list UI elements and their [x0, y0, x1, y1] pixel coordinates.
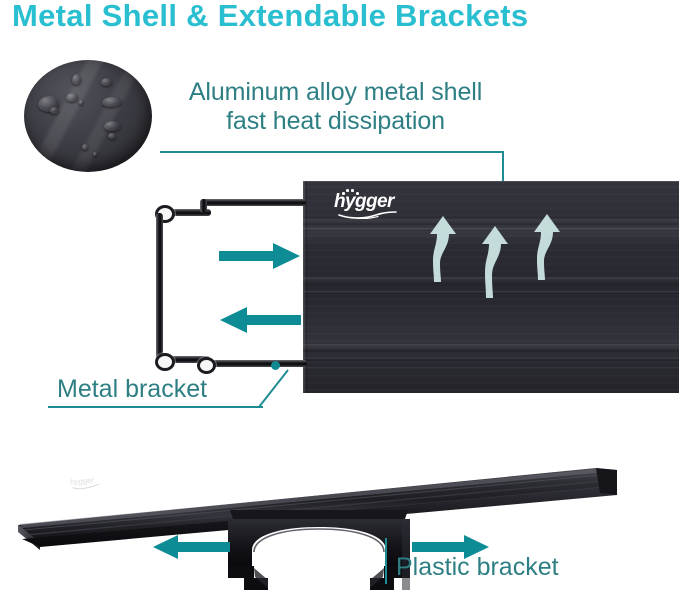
page-title: Metal Shell & Extendable Brackets: [12, 0, 652, 34]
bracket-bottom-pivot-loop: [155, 353, 175, 371]
shell-ridge-band: [303, 357, 679, 361]
heat-arrow-up-icon: [426, 213, 460, 285]
arrow-left-icon: [219, 306, 301, 334]
heat-callout-line-1: Aluminum alloy metal shell: [163, 78, 508, 107]
metal-surface-closeup-inset: [24, 60, 152, 172]
bracket-top-step: [200, 199, 207, 213]
logo-swoosh-icon: [338, 211, 400, 219]
heat-dissipation-callout: Aluminum alloy metal shell fast heat dis…: [163, 78, 508, 136]
bracket-top-arm-outer: [202, 199, 306, 206]
aquarium-light-metal-shell: hygger: [303, 181, 679, 393]
bracket-left-leg: [156, 213, 163, 361]
plastic-bracket-label: Plastic bracket: [396, 553, 559, 581]
light-bar-with-plastic-bracket: hygger: [0, 440, 679, 599]
metal-bracket-leader-dot: [271, 361, 280, 370]
metal-bracket-underline: [48, 406, 263, 408]
metal-bracket-label: Metal bracket: [57, 375, 207, 403]
logo-dots-icon: [342, 189, 362, 195]
arrow-right-icon: [219, 242, 301, 270]
metal-bracket-leader-diagonal: [258, 366, 304, 408]
bracket-bottom-pivot-loop-2: [197, 357, 216, 374]
heat-callout-line-2: fast heat dissipation: [163, 107, 508, 136]
arrow-left-icon: [152, 534, 230, 560]
product-feature-image: Metal Shell & Extendable Brackets Alumin…: [0, 0, 679, 599]
heat-arrow-up-icon: [530, 211, 564, 283]
heat-callout-leader-horizontal: [160, 151, 504, 153]
heat-arrow-up-icon: [478, 223, 512, 301]
shell-ridge-band: [303, 367, 679, 370]
hygger-logo: hygger: [334, 192, 430, 222]
shell-ridge-band: [303, 344, 679, 352]
plastic-bracket-leader: [385, 538, 387, 584]
